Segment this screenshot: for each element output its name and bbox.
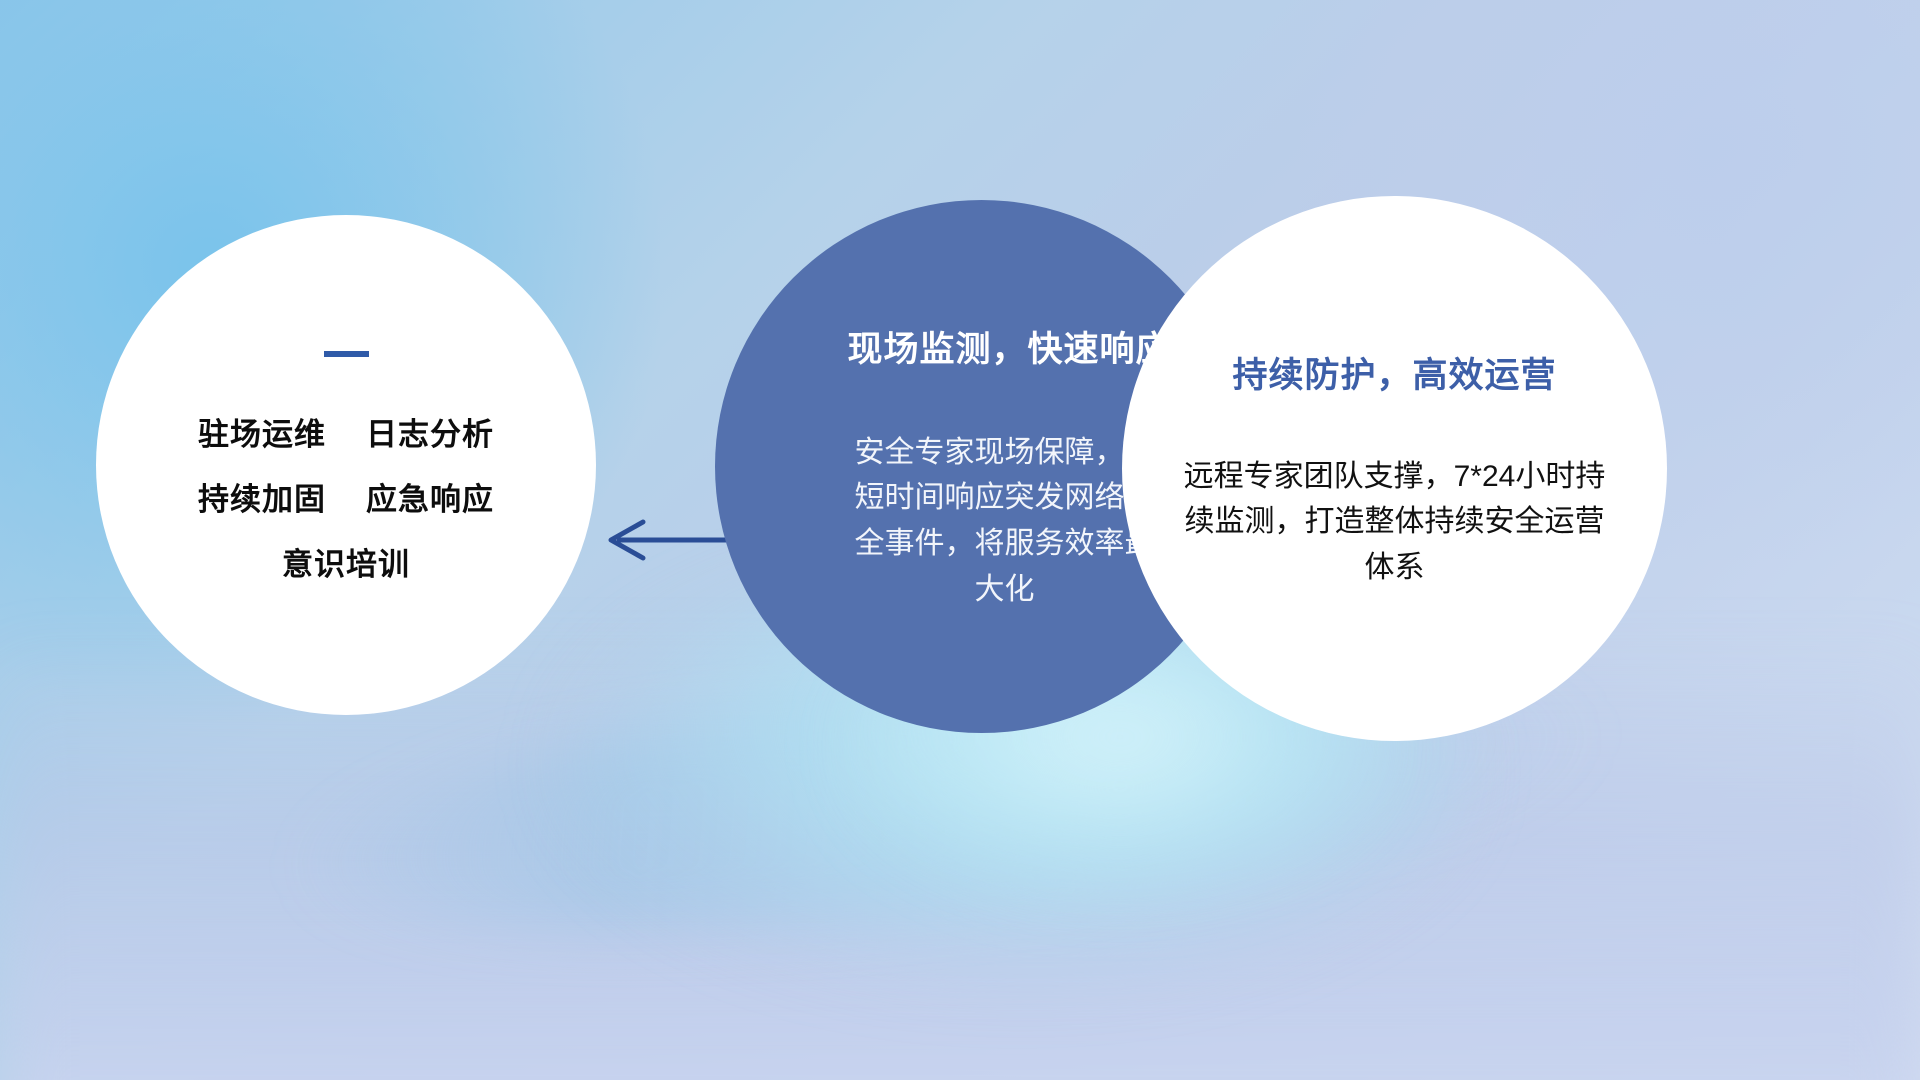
onsite-body: 安全专家现场保障，最短时间响应突发网络安全事件，将服务效率最大化 — [845, 430, 1165, 612]
service-list: 驻场运维 日志分析 持续加固 应急响应 意识培训 — [198, 419, 494, 580]
service-item[interactable]: 意识培训 — [282, 549, 410, 580]
service-row: 意识培训 — [198, 549, 494, 580]
service-item[interactable]: 驻场运维 — [198, 419, 326, 450]
diagram-stage: 驻场运维 日志分析 持续加固 应急响应 意识培训 现场监测，快速响应 安全专家现… — [0, 0, 1920, 1080]
accent-dash-icon — [324, 351, 369, 357]
service-item[interactable]: 应急响应 — [366, 484, 494, 515]
service-item[interactable]: 日志分析 — [366, 419, 494, 450]
continuous-protection-circle[interactable]: 持续防护，高效运营 远程专家团队支撑，7*24小时持续监测，打造整体持续安全运营… — [1122, 196, 1667, 741]
service-item[interactable]: 持续加固 — [198, 484, 326, 515]
service-capability-circle[interactable]: 驻场运维 日志分析 持续加固 应急响应 意识培训 — [96, 215, 596, 715]
service-row: 持续加固 应急响应 — [198, 484, 494, 515]
service-row: 驻场运维 日志分析 — [198, 419, 494, 450]
onsite-title: 现场监测，快速响应 — [847, 321, 1171, 372]
continuous-body: 远程专家团队支撑，7*24小时持续监测，打造整体持续安全运营体系 — [1180, 454, 1610, 591]
continuous-title: 持续防护，高效运营 — [1232, 347, 1556, 398]
